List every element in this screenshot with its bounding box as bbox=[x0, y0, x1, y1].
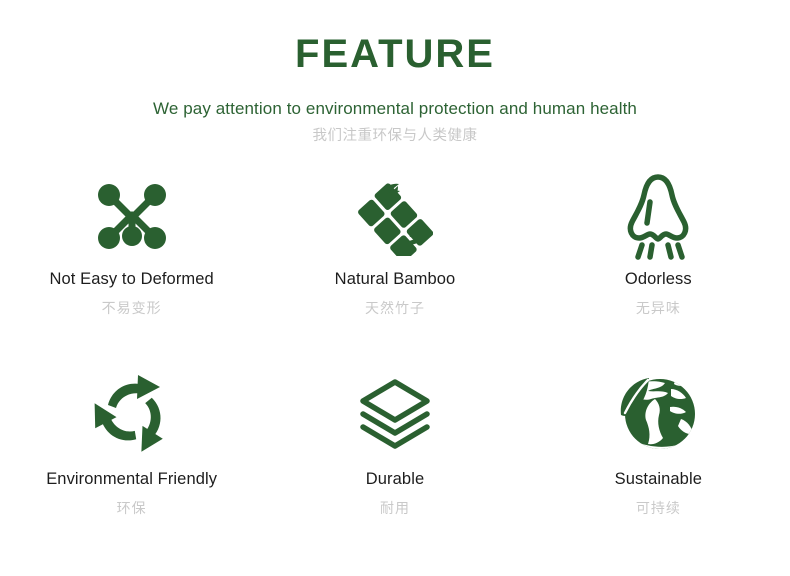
section-header: FEATURE We pay attention to environmenta… bbox=[0, 0, 790, 146]
feature-label-cn: 可持续 bbox=[636, 500, 681, 517]
feature-item-odorless: Odorless 无异味 bbox=[527, 168, 790, 364]
feature-label-cn: 环保 bbox=[117, 500, 147, 517]
feature-label-en: Environmental Friendly bbox=[46, 470, 217, 490]
feature-section: FEATURE We pay attention to environmenta… bbox=[0, 0, 790, 576]
feature-item-durable: Durable 耐用 bbox=[263, 364, 526, 560]
feature-item-not-easy-to-deformed: Not Easy to Deformed 不易变形 bbox=[0, 168, 263, 364]
subtitle-chinese: 我们注重环保与人类健康 bbox=[0, 128, 790, 145]
nose-icon bbox=[623, 168, 693, 264]
globe-leaf-icon bbox=[615, 364, 701, 464]
bamboo-icon bbox=[357, 168, 433, 264]
layers-stack-icon bbox=[355, 364, 435, 464]
molecule-lattice-icon bbox=[94, 168, 170, 264]
feature-label-cn: 不易变形 bbox=[102, 300, 162, 317]
feature-label-cn: 耐用 bbox=[380, 500, 410, 517]
feature-label-en: Durable bbox=[366, 470, 424, 490]
feature-label-en: Odorless bbox=[625, 270, 692, 290]
feature-label-cn: 天然竹子 bbox=[365, 300, 425, 317]
feature-label-cn: 无异味 bbox=[636, 300, 681, 317]
feature-label-en: Sustainable bbox=[615, 470, 702, 490]
subtitle-english: We pay attention to environmental protec… bbox=[0, 99, 790, 119]
feature-item-environmental-friendly: Environmental Friendly 环保 bbox=[0, 364, 263, 560]
feature-item-natural-bamboo: Natural Bamboo 天然竹子 bbox=[263, 168, 526, 364]
recycle-icon bbox=[90, 364, 174, 464]
page-title: FEATURE bbox=[0, 34, 790, 74]
feature-label-en: Natural Bamboo bbox=[335, 270, 456, 290]
feature-grid: Not Easy to Deformed 不易变形 bbox=[0, 168, 790, 560]
feature-label-en: Not Easy to Deformed bbox=[50, 270, 214, 290]
feature-item-sustainable: Sustainable 可持续 bbox=[527, 364, 790, 560]
